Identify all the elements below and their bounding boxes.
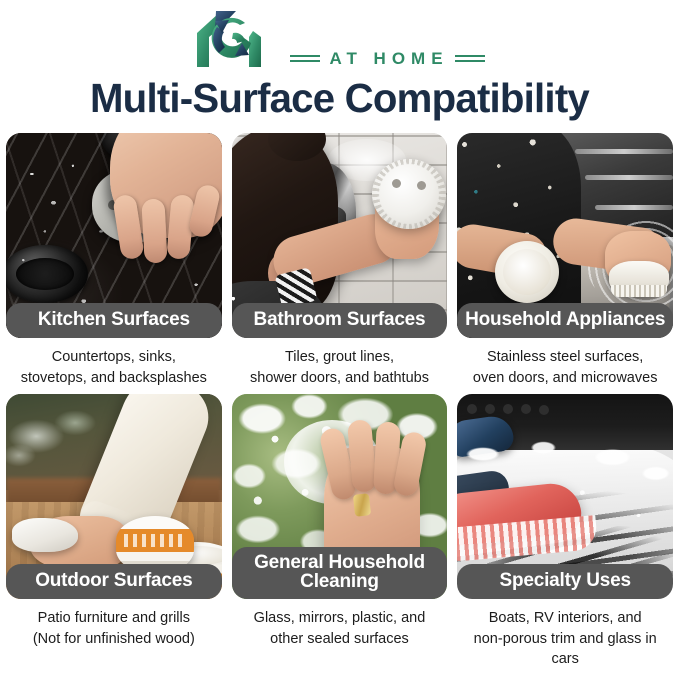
card-caption: Glass, mirrors, plastic, and other seale… <box>252 599 428 649</box>
oven-rack <box>595 205 673 210</box>
oven-rack <box>585 175 673 180</box>
card-label: General Household Cleaning <box>232 547 448 600</box>
brand-tagline: AT HOME <box>326 50 448 67</box>
card-caption: Boats, RV interiors, and non-porous trim… <box>457 599 673 670</box>
card-caption: Patio furniture and grills (Not for unfi… <box>31 599 197 649</box>
product-jar-icon <box>495 241 559 303</box>
house-recycle-logo-icon <box>189 7 277 69</box>
card-caption: Stainless steel surfaces, oven doors, an… <box>471 338 660 388</box>
surface-card-outdoor-surfaces: Outdoor Surfaces Patio furniture and gri… <box>6 394 222 670</box>
card-label: Bathroom Surfaces <box>232 303 448 338</box>
card-label: Outdoor Surfaces <box>6 564 222 599</box>
oven-rack <box>575 149 673 154</box>
card-image-frame: Specialty Uses <box>457 394 673 599</box>
brand-tagline-row: AT HOME <box>290 50 484 67</box>
surface-card-general-household-cleaning: General Household Cleaning Glass, mirror… <box>232 394 448 670</box>
card-image-frame: Outdoor Surfaces <box>6 394 222 599</box>
brand-header: EXTRA MILE AT HOME <box>0 0 679 72</box>
surface-card-specialty-uses: Specialty Uses Boats, RV interiors, and … <box>457 394 673 670</box>
scrub-brush-icon <box>609 261 669 297</box>
card-caption: Tiles, grout lines, shower doors, and ba… <box>248 338 431 388</box>
card-label: Specialty Uses <box>457 564 673 599</box>
card-image-frame: General Household Cleaning <box>232 394 448 599</box>
surface-card-grid: Kitchen Surfaces Countertops, sinks, sto… <box>0 133 679 670</box>
tagline-dash-left-icon <box>290 55 320 62</box>
infographic-page: EXTRA MILE AT HOME Multi-Surface Compati… <box>0 0 679 684</box>
tagline-dash-right-icon <box>455 55 485 62</box>
brush-bristle-rim <box>372 159 446 229</box>
card-image-frame: Household Appliances <box>457 133 673 338</box>
ring-icon <box>353 493 371 517</box>
card-image-frame: Bathroom Surfaces <box>232 133 448 338</box>
card-image-frame: Kitchen Surfaces <box>6 133 222 338</box>
sponge-icon <box>12 518 78 552</box>
page-title: Multi-Surface Compatibility <box>7 72 672 133</box>
card-caption: Countertops, sinks, stovetops, and backs… <box>19 338 209 388</box>
surface-card-household-appliances: Household Appliances Stainless steel sur… <box>457 133 673 388</box>
card-label: Kitchen Surfaces <box>6 303 222 338</box>
finger <box>141 198 167 263</box>
surface-card-kitchen-surfaces: Kitchen Surfaces Countertops, sinks, sto… <box>6 133 222 388</box>
brand-wordmark: EXTRA MILE AT HOME <box>285 10 491 67</box>
surface-card-bathroom-surfaces: Bathroom Surfaces Tiles, grout lines, sh… <box>232 133 448 388</box>
card-label: Household Appliances <box>457 303 673 338</box>
brand-name: EXTRA MILE <box>289 10 486 45</box>
